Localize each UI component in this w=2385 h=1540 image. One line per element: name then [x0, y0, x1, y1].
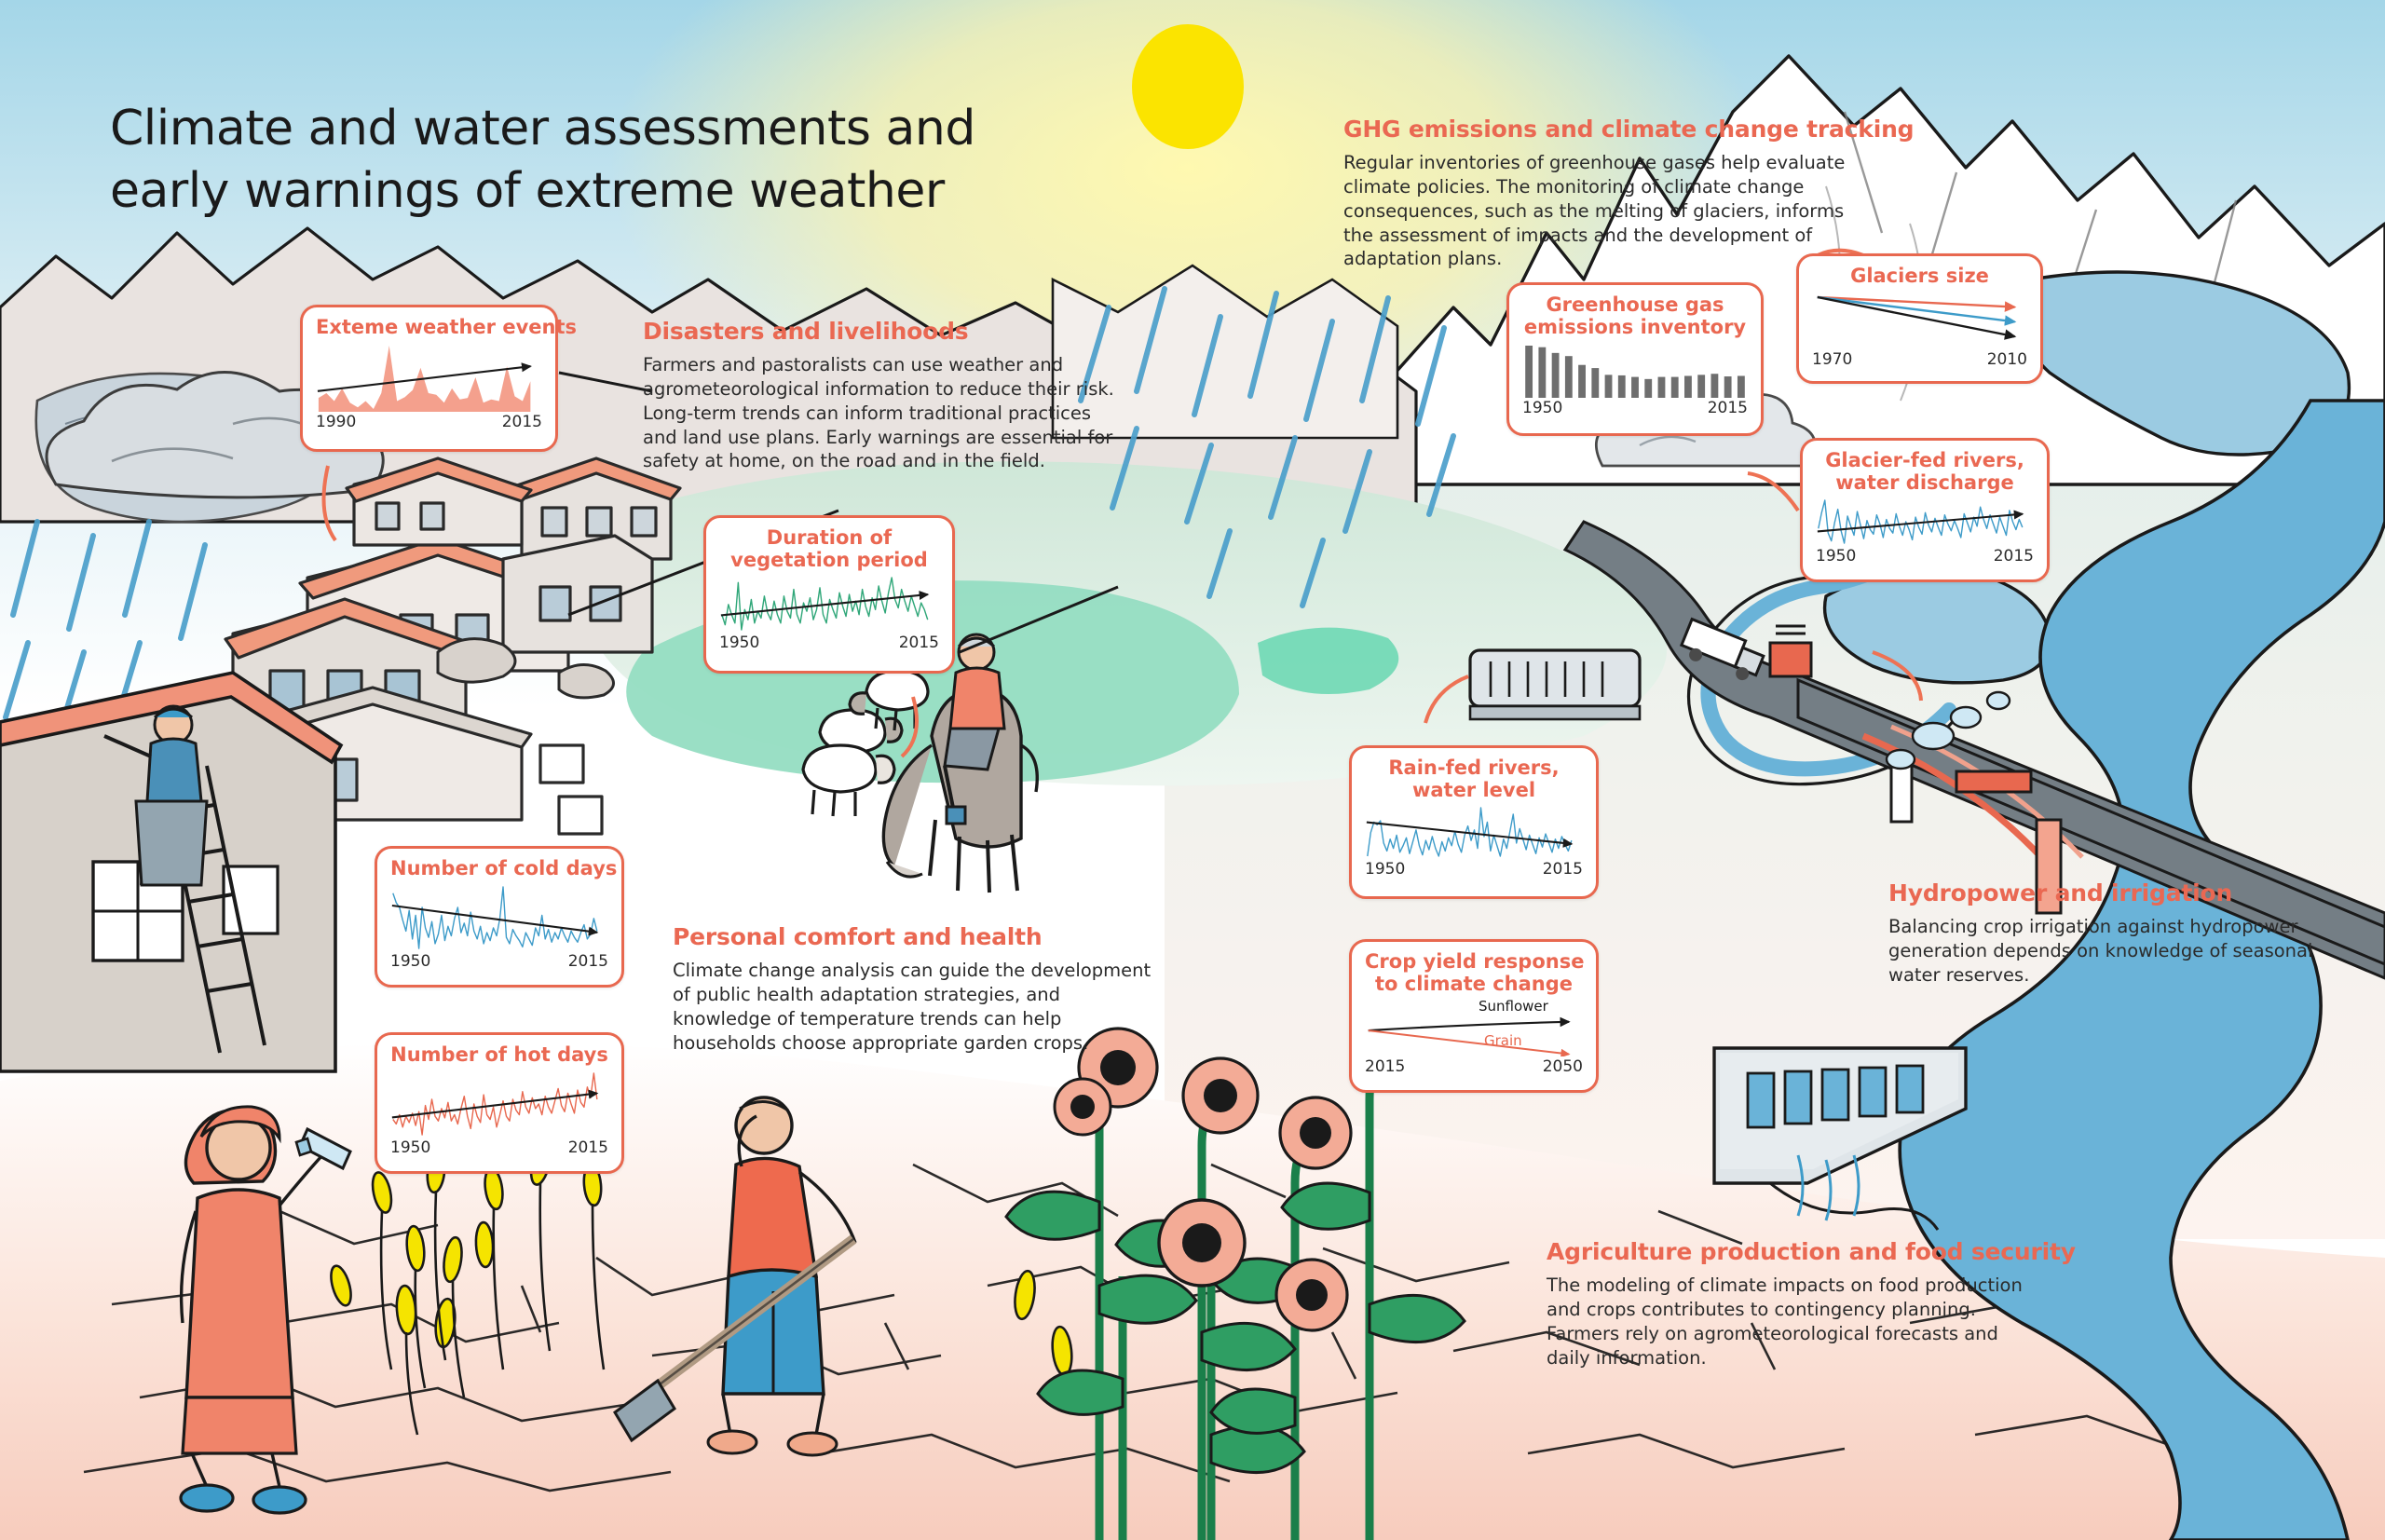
page-title: Climate and water assessments and early … — [110, 98, 975, 222]
section-agriculture: Agriculture production and food security… — [1547, 1239, 2076, 1370]
man-on-roof-with-ladder — [0, 673, 341, 1071]
axis-end-label: 2015 — [568, 1138, 608, 1157]
card-glacier-fed-rivers[interactable]: Glacier-fed rivers, water discharge 1950… — [1800, 438, 2050, 582]
page-title-line2: early warnings of extreme weather — [110, 160, 975, 223]
axis-hot-days: 1950 2015 — [390, 1138, 608, 1157]
section-personal: Personal comfort and health Climate chan… — [673, 924, 1151, 1055]
axis-start-label: 1950 — [1365, 860, 1405, 879]
axis-end-label: 2050 — [1543, 1057, 1583, 1076]
sun-icon — [1132, 24, 1244, 149]
plot-ghg-inventory — [1522, 342, 1748, 398]
card-glaciers-size[interactable]: Glaciers size 1970 2010 — [1796, 253, 2043, 384]
section-personal-heading: Personal comfort and health — [673, 924, 1151, 951]
axis-start-label: 1950 — [1522, 399, 1562, 417]
card-crop-yield[interactable]: Crop yield response to climate change Su… — [1349, 939, 1599, 1093]
axis-end-label: 2010 — [1987, 350, 2027, 369]
section-personal-body: Climate change analysis can guide the de… — [673, 959, 1151, 1056]
section-disasters-heading: Disasters and livelihoods — [643, 319, 1114, 346]
card-title-extreme-weather: Exteme weather events — [316, 317, 542, 339]
section-disasters-body: Farmers and pastoralists can use weather… — [643, 353, 1114, 474]
axis-end-label: 2015 — [899, 634, 939, 652]
axis-glacier-fed: 1950 2015 — [1816, 547, 2034, 566]
axis-start-label: 1970 — [1812, 350, 1852, 369]
axis-crop-yield: 2015 2050 — [1365, 1057, 1583, 1076]
card-title-vegetation: Duration of vegetation period — [719, 527, 939, 571]
card-hot-days[interactable]: Number of hot days 1950 2015 — [375, 1032, 624, 1174]
plot-hot-days — [390, 1070, 608, 1138]
section-ghg: GHG emissions and climate change trackin… — [1343, 116, 1914, 271]
plot-glaciers-size — [1812, 292, 2027, 349]
axis-start-label: 2015 — [1365, 1057, 1405, 1076]
axis-start-label: 1950 — [1816, 547, 1856, 566]
axis-vegetation: 1950 2015 — [719, 634, 939, 652]
section-hydropower-heading: Hydropower and irrigation — [1888, 880, 2312, 907]
axis-start-label: 1950 — [390, 1138, 430, 1157]
card-title-crop-yield: Crop yield response to climate change — [1365, 951, 1583, 995]
section-disasters: Disasters and livelihoods Farmers and pa… — [643, 319, 1114, 473]
card-title-hot-days: Number of hot days — [390, 1044, 608, 1067]
axis-extreme-weather: 1990 2015 — [316, 413, 542, 431]
axis-start-label: 1990 — [316, 413, 356, 431]
axis-rain-fed: 1950 2015 — [1365, 860, 1583, 879]
card-title-glaciers-size: Glaciers size — [1812, 266, 2027, 288]
card-extreme-weather-events[interactable]: Exteme weather events 1990 2015 — [300, 305, 558, 452]
card-title-ghg-inventory: Greenhouse gas emissions inventory — [1522, 294, 1748, 338]
axis-start-label: 1950 — [719, 634, 759, 652]
axis-end-label: 2015 — [1708, 399, 1748, 417]
series-label-grain: Grain — [1484, 1032, 1522, 1049]
axis-ghg-inventory: 1950 2015 — [1522, 399, 1748, 417]
plot-extreme-weather — [316, 343, 542, 412]
plot-crop-yield: Sunflower Grain — [1365, 999, 1583, 1056]
card-cold-days[interactable]: Number of cold days 1950 2015 — [375, 846, 624, 988]
card-title-glacier-fed: Glacier-fed rivers, water discharge — [1816, 450, 2034, 494]
plot-rain-fed-rivers — [1365, 805, 1583, 859]
plot-cold-days — [390, 884, 608, 951]
weather-station — [1470, 650, 1640, 719]
axis-glaciers-size: 1970 2010 — [1812, 350, 2027, 369]
card-rain-fed-rivers[interactable]: Rain-fed rivers, water level 1950 2015 — [1349, 745, 1599, 899]
axis-start-label: 1950 — [390, 952, 430, 971]
axis-end-label: 2015 — [502, 413, 542, 431]
card-title-cold-days: Number of cold days — [390, 858, 608, 880]
plot-glacier-fed-rivers — [1816, 497, 2034, 546]
section-agriculture-body: The modeling of climate impacts on food … — [1547, 1274, 2076, 1370]
section-hydropower-body: Balancing crop irrigation against hydrop… — [1888, 915, 2312, 988]
axis-end-label: 2015 — [1543, 860, 1583, 879]
infographic-canvas: Climate and water assessments and early … — [0, 0, 2385, 1540]
section-agriculture-heading: Agriculture production and food security — [1547, 1239, 2076, 1266]
plot-vegetation-period — [719, 575, 939, 633]
axis-end-label: 2015 — [568, 952, 608, 971]
card-title-rain-fed: Rain-fed rivers, water level — [1365, 757, 1583, 801]
card-ghg-inventory[interactable]: Greenhouse gas emissions inventory 1950 … — [1506, 282, 1764, 436]
section-ghg-heading: GHG emissions and climate change trackin… — [1343, 116, 1914, 143]
series-label-sunflower: Sunflower — [1479, 998, 1548, 1015]
axis-cold-days: 1950 2015 — [390, 952, 608, 971]
page-title-line1: Climate and water assessments and — [110, 98, 975, 160]
irrigation-gate — [1770, 626, 1811, 676]
section-hydropower: Hydropower and irrigation Balancing crop… — [1888, 880, 2312, 988]
axis-end-label: 2015 — [1994, 547, 2034, 566]
card-vegetation-period[interactable]: Duration of vegetation period 1950 2015 — [703, 515, 955, 674]
